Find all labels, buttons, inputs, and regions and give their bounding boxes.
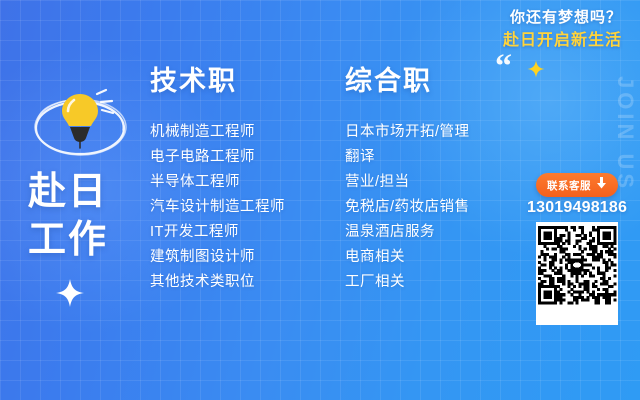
headline-line2: 赴日开启新生活 bbox=[503, 30, 622, 52]
arrow-down-icon bbox=[596, 176, 607, 194]
list-item: 翻译 bbox=[345, 145, 470, 170]
list-item: 电商相关 bbox=[345, 245, 470, 270]
list-item: IT开发工程师 bbox=[150, 220, 285, 245]
poster-canvas: 赴日 工作 技术职 机械制造工程师 电子电路工程师 半导体工程师 汽车设计制造工… bbox=[0, 0, 640, 400]
list-item: 免税店/药妆店销售 bbox=[345, 195, 470, 220]
brand-title: 赴日 工作 bbox=[28, 168, 138, 264]
joinus-watermark: JOIN US bbox=[612, 76, 638, 192]
list-item: 日本市场开拓/管理 bbox=[345, 120, 470, 145]
lightbulb-icon bbox=[28, 82, 132, 166]
contact-support-button-label: 联系客服 bbox=[547, 178, 591, 193]
list-item: 电子电路工程师 bbox=[150, 145, 285, 170]
job-list-general: 日本市场开拓/管理 翻译 营业/担当 免税店/药妆店销售 温泉酒店服务 电商相关… bbox=[345, 120, 470, 295]
qr-code[interactable] bbox=[536, 222, 618, 325]
brand-title-line1: 赴日 bbox=[28, 168, 138, 216]
brand-title-line2: 工作 bbox=[28, 216, 138, 264]
column-heading-tech: 技术职 bbox=[150, 64, 285, 98]
list-item: 工厂相关 bbox=[345, 270, 470, 295]
four-point-star-icon bbox=[527, 60, 545, 78]
list-item: 营业/担当 bbox=[345, 170, 470, 195]
list-item: 其他技术类职位 bbox=[150, 270, 285, 295]
phone-number: 13019498186 bbox=[527, 199, 627, 217]
list-item: 半导体工程师 bbox=[150, 170, 285, 195]
list-item: 汽车设计制造工程师 bbox=[150, 195, 285, 220]
column-heading-general: 综合职 bbox=[345, 64, 470, 98]
quote-mark-icon: “ bbox=[495, 57, 512, 77]
list-item: 温泉酒店服务 bbox=[345, 220, 470, 245]
headline-block: 你还有梦想吗？ 赴日开启新生活 bbox=[503, 8, 622, 52]
list-item: 机械制造工程师 bbox=[150, 120, 285, 145]
contact-support-button[interactable]: 联系客服 bbox=[536, 173, 618, 197]
four-point-star-icon bbox=[55, 278, 85, 308]
job-column-general: 综合职 日本市场开拓/管理 翻译 营业/担当 免税店/药妆店销售 温泉酒店服务 … bbox=[345, 64, 470, 295]
job-list-tech: 机械制造工程师 电子电路工程师 半导体工程师 汽车设计制造工程师 IT开发工程师… bbox=[150, 120, 285, 295]
headline-line1: 你还有梦想吗？ bbox=[503, 8, 622, 28]
job-column-tech: 技术职 机械制造工程师 电子电路工程师 半导体工程师 汽车设计制造工程师 IT开… bbox=[150, 64, 285, 295]
list-item: 建筑制图设计师 bbox=[150, 245, 285, 270]
